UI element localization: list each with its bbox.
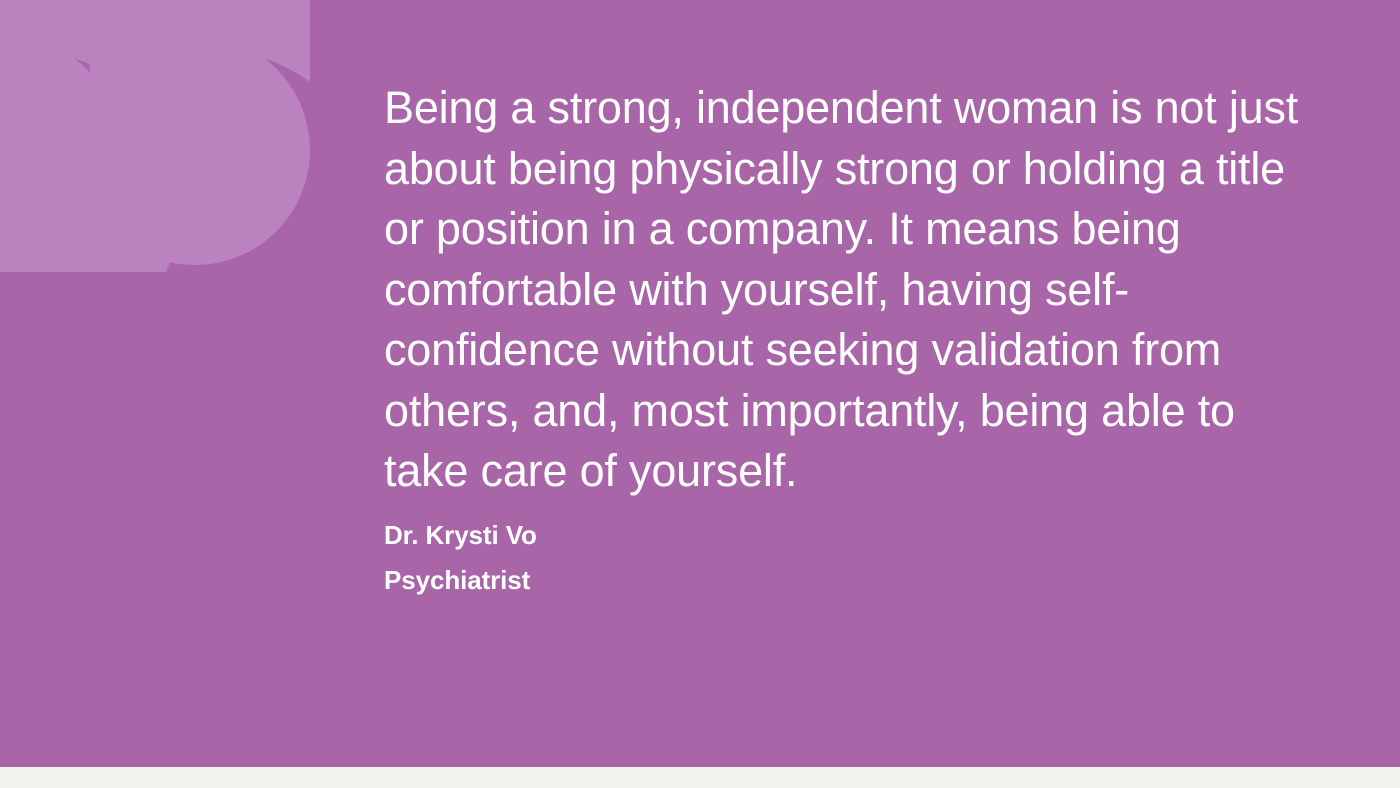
attribution-block: Dr. Krysti Vo Psychiatrist bbox=[384, 513, 984, 603]
quote-text-block: Being a strong, independent woman is not… bbox=[384, 78, 1234, 502]
quote-line: take care of yourself. bbox=[384, 441, 1234, 502]
author-name: Dr. Krysti Vo bbox=[384, 513, 984, 558]
quote-slide: Being a strong, independent woman is not… bbox=[0, 0, 1400, 788]
quote-line: comfortable with yourself, having self- bbox=[384, 260, 1234, 321]
quote-line: about being physically strong or holding… bbox=[384, 139, 1234, 200]
quote-line: confidence without seeking validation fr… bbox=[384, 320, 1234, 381]
quotation-mark-icon bbox=[0, 0, 330, 272]
author-title: Psychiatrist bbox=[384, 558, 984, 603]
bottom-strip bbox=[0, 767, 1400, 788]
quote-line: Being a strong, independent woman is not… bbox=[384, 78, 1234, 139]
purple-background-panel: Being a strong, independent woman is not… bbox=[0, 0, 1400, 767]
quote-line: others, and, most importantly, being abl… bbox=[384, 381, 1234, 442]
quote-line: or position in a company. It means being bbox=[384, 199, 1234, 260]
